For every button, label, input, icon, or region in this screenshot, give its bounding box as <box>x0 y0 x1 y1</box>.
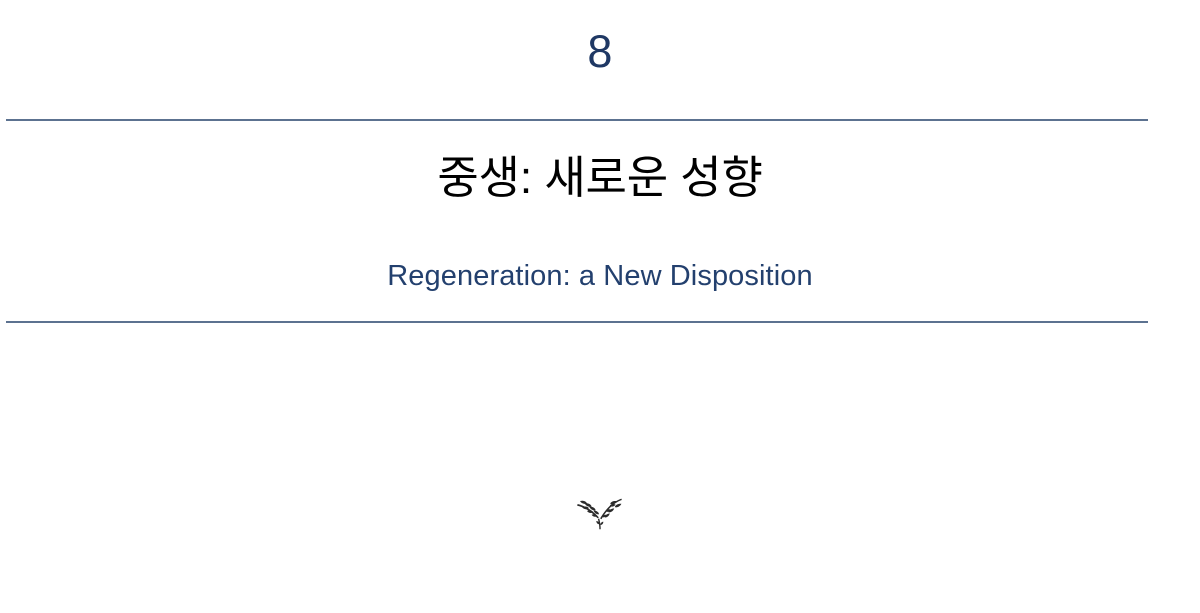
page-subtitle: Regeneration: a New Disposition <box>0 259 1200 294</box>
page-number: 8 <box>0 29 1200 74</box>
leaf-sprig-ornament-icon <box>576 498 624 532</box>
slide: 8 중생: 새로운 성향 Regeneration: a New Disposi… <box>0 0 1200 613</box>
slide-body-area <box>6 323 1148 613</box>
title-block: 중생: 새로운 성향 Regeneration: a New Dispositi… <box>0 119 1200 321</box>
page-title: 중생: 새로운 성향 <box>0 151 1200 205</box>
